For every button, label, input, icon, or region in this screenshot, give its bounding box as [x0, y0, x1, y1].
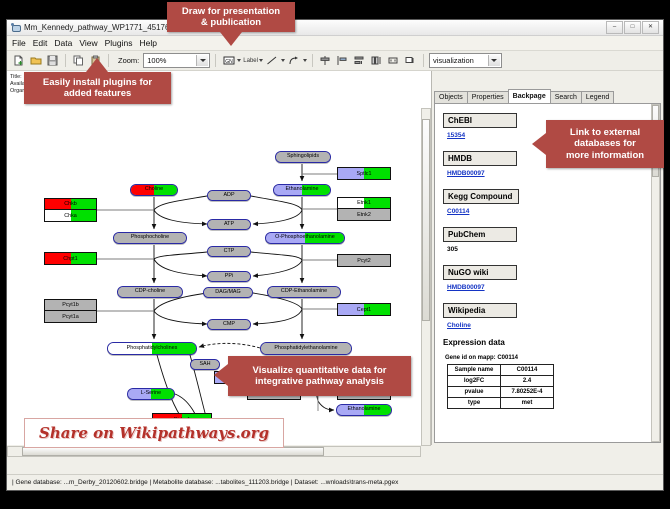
- minimize-button[interactable]: –: [606, 21, 623, 34]
- callout-plugins: Easily install plugins for added feature…: [24, 72, 171, 104]
- zoom-label: Zoom:: [118, 56, 139, 65]
- chevron-down-icon-2[interactable]: [488, 55, 500, 66]
- metabolite-node-adp[interactable]: ADP: [207, 190, 251, 201]
- callout-link-arrow: [532, 133, 546, 155]
- db-header-hmdb: HMDB: [443, 151, 517, 166]
- label-button-text: Label: [243, 58, 258, 64]
- metabolite-node-ctp[interactable]: CTP: [207, 246, 251, 257]
- expression-data-header: Expression data: [443, 338, 660, 347]
- metabolite-node-l-serine-left[interactable]: L-Serine: [127, 388, 175, 400]
- stack-icon[interactable]: [369, 53, 384, 68]
- line-icon[interactable]: [265, 53, 280, 68]
- db-header-kegg-compound: Kegg Compound: [443, 189, 519, 204]
- menu-bar: File Edit Data View Plugins Help: [7, 36, 663, 51]
- maximize-button[interactable]: □: [624, 21, 641, 34]
- layer-icon[interactable]: [403, 53, 418, 68]
- metabolite-node-phosphocholine[interactable]: Phosphocholine: [113, 232, 187, 244]
- gene-node-chk[interactable]: ChkbChka: [44, 198, 97, 222]
- callout-draw-line1: Draw for presentation: [182, 6, 280, 17]
- gene-node-sptlc1[interactable]: Sptlc1: [337, 167, 391, 180]
- status-bar: | Gene database: ...m_Derby_20120602.bri…: [7, 474, 663, 490]
- gene-row[interactable]: Pcyt2: [338, 255, 390, 266]
- gene-row[interactable]: Pcyt1a: [45, 311, 96, 322]
- table-cell-key: log2FC: [448, 376, 501, 387]
- metabolite-node-phosphatidylcholines[interactable]: Phosphatidylcholines: [107, 342, 197, 355]
- gene-row[interactable]: Pcyt1b: [45, 300, 96, 311]
- callout-viz-line2: integrative pathway analysis: [255, 376, 384, 387]
- close-button[interactable]: ✕: [642, 21, 659, 34]
- tab-backpage[interactable]: Backpage: [508, 89, 551, 103]
- tab-legend[interactable]: Legend: [581, 91, 614, 103]
- table-cell-key: pvalue: [448, 387, 501, 398]
- metabolite-node-cdp-choline[interactable]: CDP-choline: [117, 286, 183, 298]
- distribute-icon[interactable]: [352, 53, 367, 68]
- callout-visualize-arrow: [214, 364, 228, 386]
- gene-node-cept1[interactable]: Cept1: [337, 303, 391, 316]
- interaction-icon[interactable]: [287, 53, 302, 68]
- gene-row[interactable]: Sptlc1: [338, 168, 390, 179]
- callout-link-line1: Link to external: [570, 127, 640, 138]
- line-dropdown[interactable]: [265, 53, 285, 68]
- gene-row[interactable]: Chkb: [45, 199, 96, 210]
- menu-item-data[interactable]: Data: [54, 38, 72, 48]
- open-icon[interactable]: [28, 53, 43, 68]
- metabolite-node-ppi[interactable]: PPi: [207, 271, 251, 282]
- save-icon[interactable]: [45, 53, 60, 68]
- zoom-value: 100%: [147, 56, 166, 65]
- gene-node-pcyt2[interactable]: Pcyt2: [337, 254, 391, 267]
- metabolite-node-cdp-ethanolamine[interactable]: CDP-Ethanolamine: [267, 286, 341, 298]
- callout-plugins-line2: added features: [64, 88, 132, 99]
- db-header-wikipedia: Wikipedia: [443, 303, 517, 318]
- menu-item-file[interactable]: File: [12, 38, 26, 48]
- menu-item-view[interactable]: View: [79, 38, 97, 48]
- gene-id-label: Gene id on mapp: C00114: [445, 355, 660, 361]
- canvas-hscroll-thumb[interactable]: [22, 447, 324, 456]
- label-dropdown[interactable]: Label: [243, 58, 263, 64]
- table-row: Sample nameC00114: [448, 365, 554, 376]
- db-header-nugo-wiki: NuGO wiki: [443, 265, 517, 280]
- callout-plugins-arrow: [86, 58, 108, 72]
- app-icon: [11, 23, 20, 32]
- visualization-combo[interactable]: visualization: [429, 53, 502, 68]
- align-center-icon[interactable]: [318, 53, 333, 68]
- share-text: Share on Wikipathways.org: [39, 424, 269, 442]
- share-banner: Share on Wikipathways.org: [24, 418, 284, 448]
- metabolite-node-phosphatidylethanolamine[interactable]: Phosphatidylethanolamine: [260, 342, 352, 355]
- gene-row[interactable]: Chka: [45, 210, 96, 221]
- callout-link: Link to external databases for more info…: [546, 120, 664, 168]
- table-row: log2FC2.4: [448, 376, 554, 387]
- table-cell-value: met: [501, 398, 554, 409]
- copy-icon[interactable]: [71, 53, 86, 68]
- callout-draw-line2: & publication: [201, 17, 261, 28]
- meta-organism: Organ: [10, 88, 25, 95]
- title-bar: Mm_Kennedy_pathway_WP1771_45176.gp – □ ✕: [7, 20, 663, 36]
- datanode-dropdown[interactable]: GN: [221, 53, 241, 68]
- table-cell-value: C00114: [501, 365, 554, 376]
- gene-row[interactable]: Cept1: [338, 304, 390, 315]
- gene-node-pcyt1[interactable]: Pcyt1bPcyt1a: [44, 299, 97, 323]
- zoom-combo[interactable]: 100%: [143, 53, 210, 68]
- metabolite-node-dag-mag[interactable]: DAG/MAG: [203, 287, 253, 298]
- metabolite-node-ethanolamine-right[interactable]: Ethanolamine: [336, 404, 392, 416]
- metabolite-node-choline-top[interactable]: Choline: [130, 184, 178, 196]
- db-link-hmdb[interactable]: HMDB00097: [447, 170, 660, 177]
- expression-table: Sample nameC00114log2FC2.4pvalue7.80252E…: [447, 364, 554, 409]
- metabolite-node-cmp[interactable]: CMP: [207, 319, 251, 330]
- pathway-meta: Title: Availa Organ: [10, 74, 25, 95]
- canvas-scrollbar-vertical[interactable]: [421, 108, 431, 446]
- db-link-wikipedia[interactable]: Choline: [447, 322, 660, 329]
- window-title: Mm_Kennedy_pathway_WP1771_45176.gp: [24, 23, 181, 32]
- gene-row[interactable]: Etnk2: [338, 209, 390, 220]
- table-cell-key: type: [448, 398, 501, 409]
- meta-availability: Availa: [10, 81, 25, 88]
- align-left-icon[interactable]: [335, 53, 350, 68]
- tab-properties[interactable]: Properties: [467, 91, 509, 103]
- menu-item-help[interactable]: Help: [140, 38, 157, 48]
- table-cell-value: 2.4: [501, 376, 554, 387]
- callout-plugins-line1: Easily install plugins for: [43, 77, 152, 88]
- new-icon[interactable]: [11, 53, 26, 68]
- visualization-value: visualization: [433, 56, 474, 65]
- callout-draw: Draw for presentation & publication: [167, 2, 295, 32]
- callout-link-line3: more information: [566, 150, 644, 161]
- db-link-kegg-compound[interactable]: C00114: [447, 208, 660, 215]
- callout-draw-arrow: [220, 32, 242, 46]
- datanode-icon[interactable]: GN: [221, 53, 236, 68]
- menu-item-plugins[interactable]: Plugins: [105, 38, 133, 48]
- canvas-vscroll-thumb[interactable]: [422, 119, 430, 321]
- callout-viz-line1: Visualize quantitative data for: [253, 365, 387, 376]
- callout-link-line2: databases for: [574, 138, 636, 149]
- side-tabs: Objects Properties Backpage Search Legen…: [434, 90, 661, 104]
- db-value-pubchem: 305: [447, 246, 660, 253]
- table-row: typemet: [448, 398, 554, 409]
- table-cell-value: 7.80252E-4: [501, 387, 554, 398]
- meta-title: Title:: [10, 74, 25, 81]
- gene-node-etnk[interactable]: Etnk1Etnk2: [337, 197, 391, 221]
- tab-search[interactable]: Search: [550, 91, 582, 103]
- db-link-nugo-wiki[interactable]: HMDB00097: [447, 284, 660, 291]
- gene-row[interactable]: Etnk1: [338, 198, 390, 209]
- db-header-chebi: ChEBI: [443, 113, 517, 128]
- group-icon[interactable]: [386, 53, 401, 68]
- table-row: pvalue7.80252E-4: [448, 387, 554, 398]
- menu-item-edit[interactable]: Edit: [33, 38, 48, 48]
- chevron-down-icon[interactable]: [196, 55, 208, 66]
- metabolite-node-ethanolamine-top[interactable]: Ethanolamine: [273, 184, 331, 196]
- gene-node-chpt1[interactable]: Chpt1: [44, 252, 97, 265]
- tab-objects[interactable]: Objects: [434, 91, 468, 103]
- callout-visualize: Visualize quantitative data for integrat…: [228, 356, 411, 396]
- db-header-pubchem: PubChem: [443, 227, 517, 242]
- svg-text:GN: GN: [225, 59, 233, 65]
- table-cell-key: Sample name: [448, 365, 501, 376]
- metabolite-node-sphingolipids[interactable]: Sphingolipids: [275, 151, 331, 163]
- gene-row[interactable]: Chpt1: [45, 253, 96, 264]
- metabolite-node-o-phosphoethanolamine[interactable]: O-Phosphoethanolamine: [265, 232, 345, 244]
- metabolite-node-atp[interactable]: ATP: [207, 219, 251, 230]
- status-text: | Gene database: ...m_Derby_20120602.bri…: [12, 479, 398, 486]
- interaction-dropdown[interactable]: [287, 53, 307, 68]
